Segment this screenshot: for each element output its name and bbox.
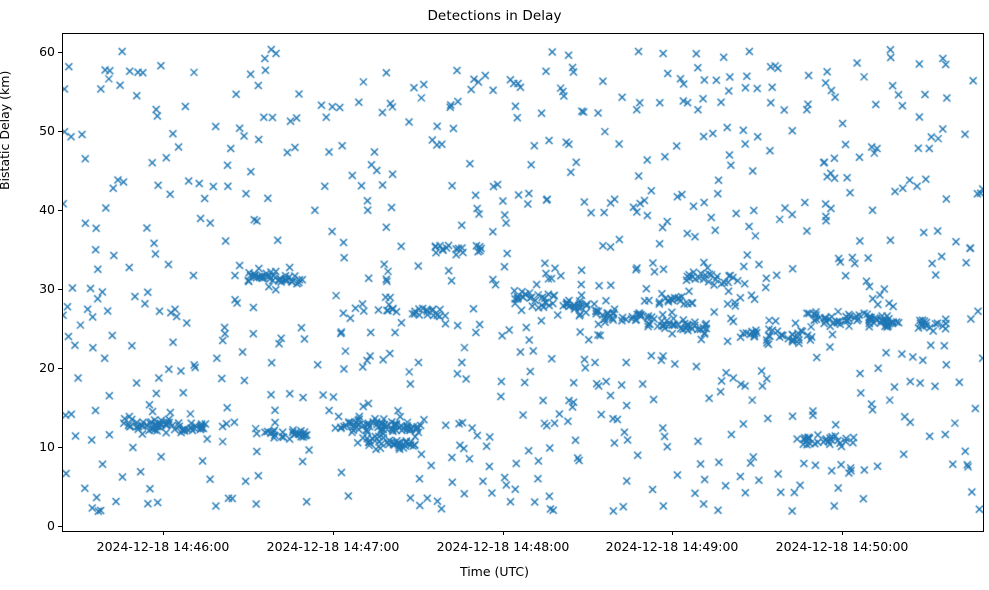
plot-axes bbox=[62, 33, 984, 532]
x-tick-label: 2024-12-18 14:46:00 bbox=[97, 539, 230, 554]
y-axis-label: Bistatic Delay (km) bbox=[0, 71, 12, 190]
x-tick-mark bbox=[842, 531, 843, 535]
x-tick-mark bbox=[672, 531, 673, 535]
x-tick-label: 2024-12-18 14:50:00 bbox=[776, 539, 909, 554]
x-axis-label: Time (UTC) bbox=[0, 564, 989, 579]
scatter-canvas bbox=[63, 34, 983, 531]
y-tick-label: 30 bbox=[39, 281, 55, 296]
y-tick-label: 50 bbox=[39, 123, 55, 138]
y-tick-mark bbox=[58, 368, 62, 369]
y-tick-mark bbox=[58, 526, 62, 527]
x-tick-mark bbox=[333, 531, 334, 535]
chart-title: Detections in Delay bbox=[0, 8, 989, 24]
y-tick-mark bbox=[58, 289, 62, 290]
y-tick-label: 0 bbox=[47, 518, 55, 533]
x-tick-label: 2024-12-18 14:47:00 bbox=[267, 539, 400, 554]
x-tick-mark bbox=[163, 531, 164, 535]
x-tick-mark bbox=[503, 531, 504, 535]
matplotlib-figure: Detections in Delay 0102030405060 2024-1… bbox=[0, 0, 989, 590]
y-tick-mark bbox=[58, 210, 62, 211]
y-tick-label: 60 bbox=[39, 44, 55, 59]
y-tick-label: 40 bbox=[39, 202, 55, 217]
y-tick-mark bbox=[58, 447, 62, 448]
x-tick-label: 2024-12-18 14:48:00 bbox=[437, 539, 570, 554]
y-tick-mark bbox=[58, 131, 62, 132]
y-tick-mark bbox=[58, 52, 62, 53]
y-tick-label: 10 bbox=[39, 439, 55, 454]
x-tick-label: 2024-12-18 14:49:00 bbox=[606, 539, 739, 554]
y-tick-label: 20 bbox=[39, 360, 55, 375]
